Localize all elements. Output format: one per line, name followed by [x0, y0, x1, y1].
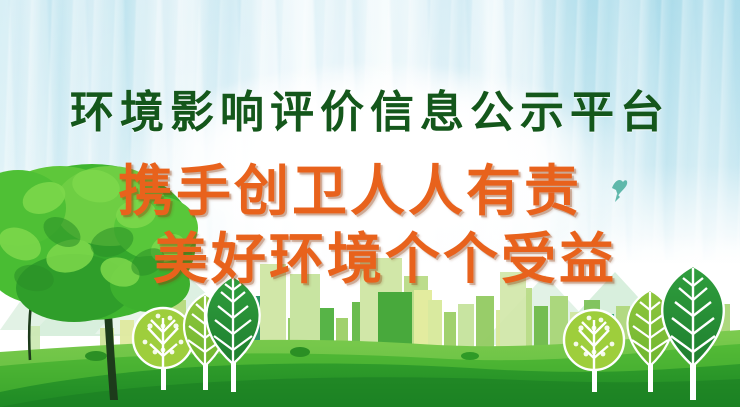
environmental-publicity-banner: 环境影响评价信息公示平台 携手创卫人人有责 美好环境个个受益	[0, 0, 740, 407]
page-title: 环境影响评价信息公示平台	[0, 76, 740, 140]
slogan-line-2: 美好环境个个受益	[0, 214, 740, 294]
